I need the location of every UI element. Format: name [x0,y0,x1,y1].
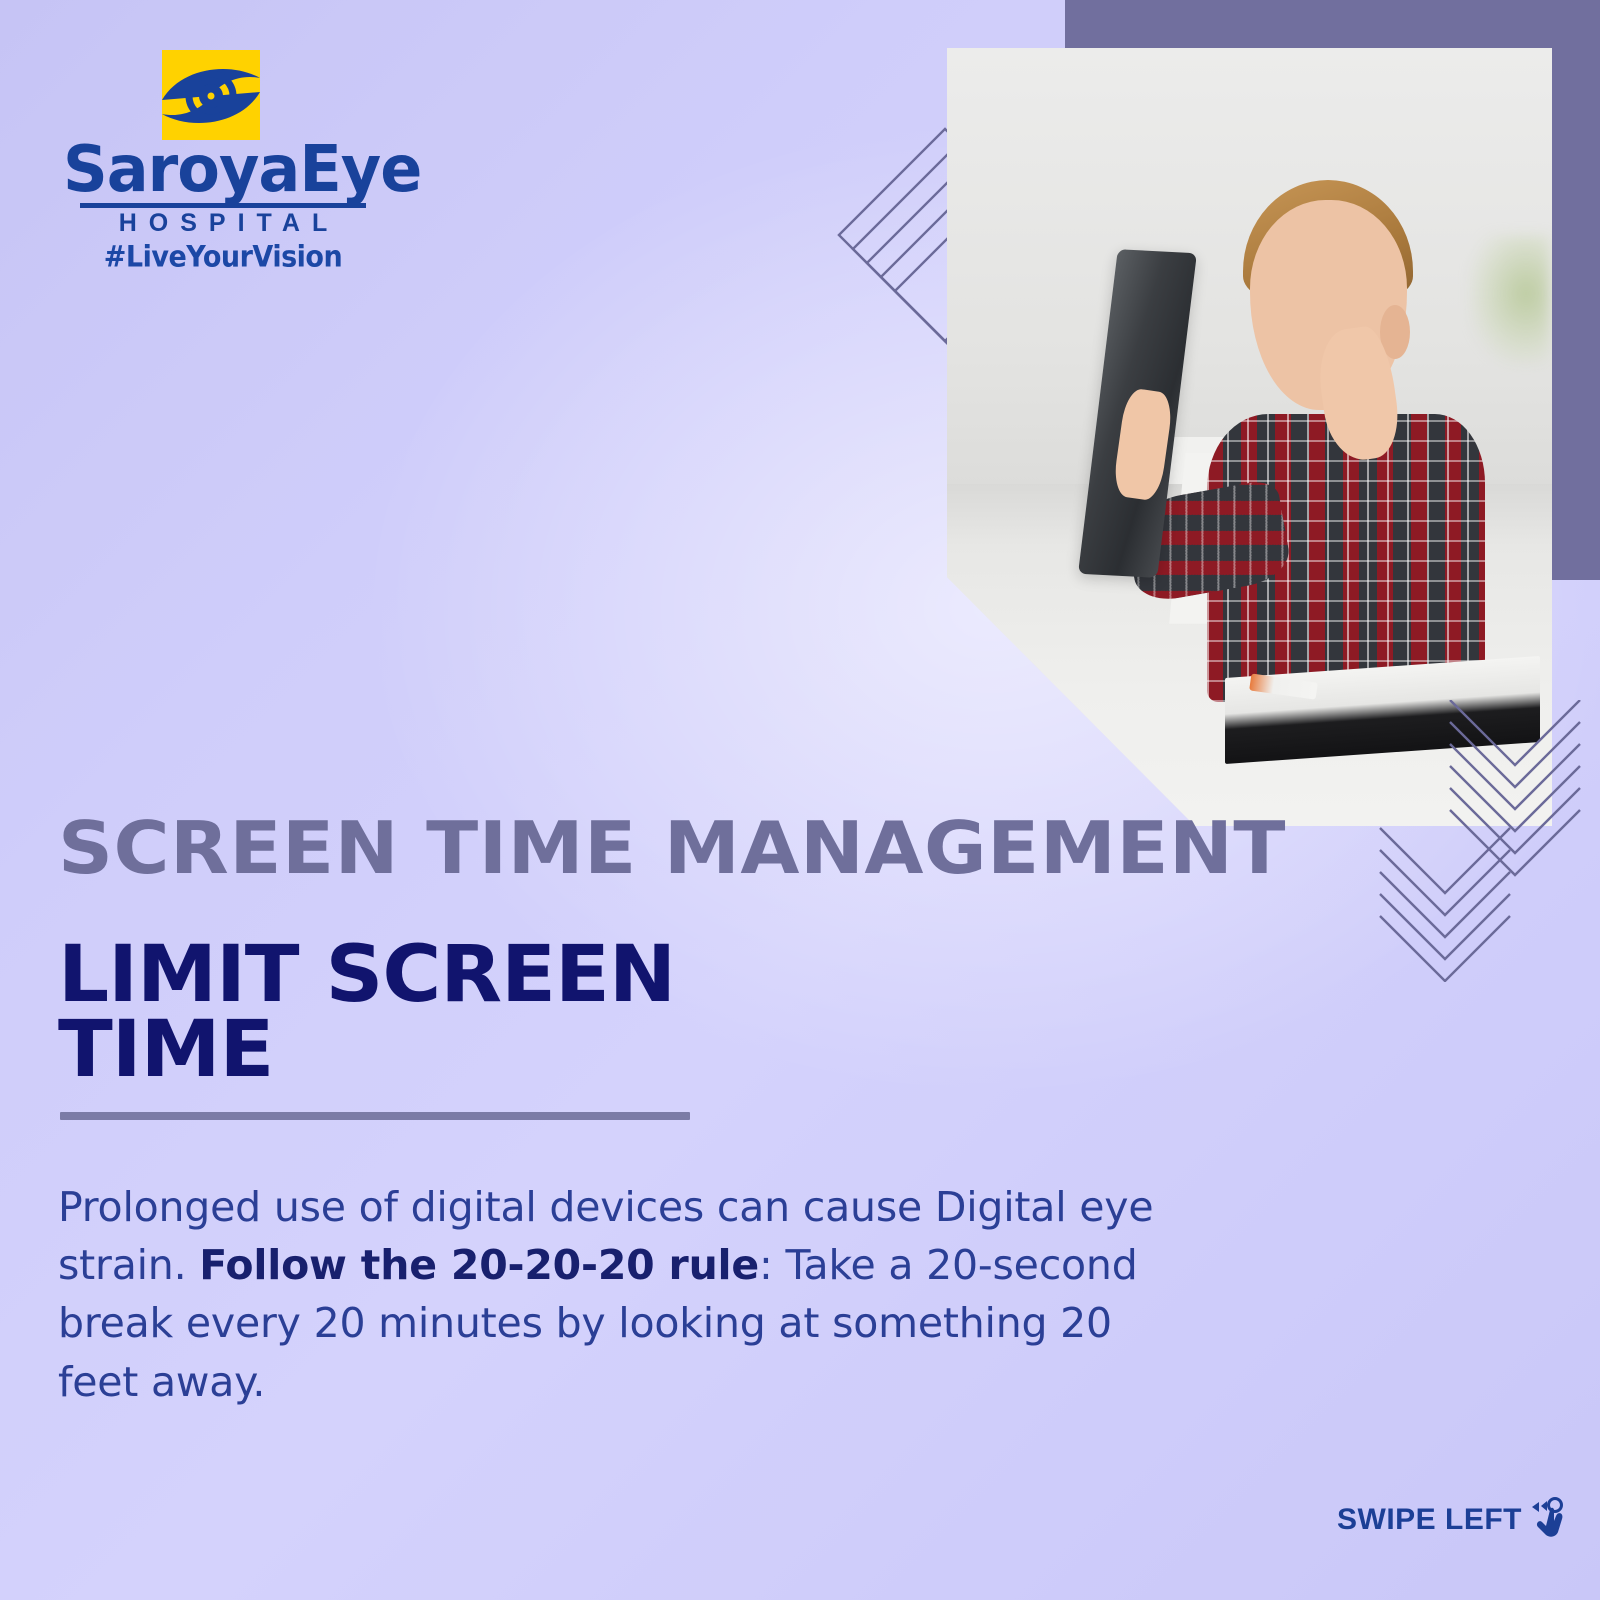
swipe-left-label: SWIPE LEFT [1337,1503,1522,1537]
body-text-strong: Follow the 20-20-20 rule [199,1241,759,1289]
brand-name: SaroyaEye [63,138,383,202]
eye-icon [162,50,260,140]
swipe-left-cue[interactable]: SWIPE LEFT [1337,1494,1568,1545]
brand-logo: SaroyaEye HOSPITAL #LiveYourVision [58,50,388,271]
body-copy: Prolonged use of digital devices can cau… [58,1178,1168,1411]
page-title: LIMIT SCREEN TIME [58,938,779,1088]
brand-subtitle: HOSPITAL [58,211,388,236]
title-divider [60,1112,690,1120]
poster-canvas: SaroyaEye HOSPITAL #LiveYourVision SCREE… [0,0,1600,1600]
brand-tagline: #LiveYourVision [58,243,388,272]
boy-with-tablet-photo [947,48,1552,826]
kicker-text: SCREEN TIME MANAGEMENT [58,806,1286,890]
tap-hand-icon [1526,1494,1568,1545]
